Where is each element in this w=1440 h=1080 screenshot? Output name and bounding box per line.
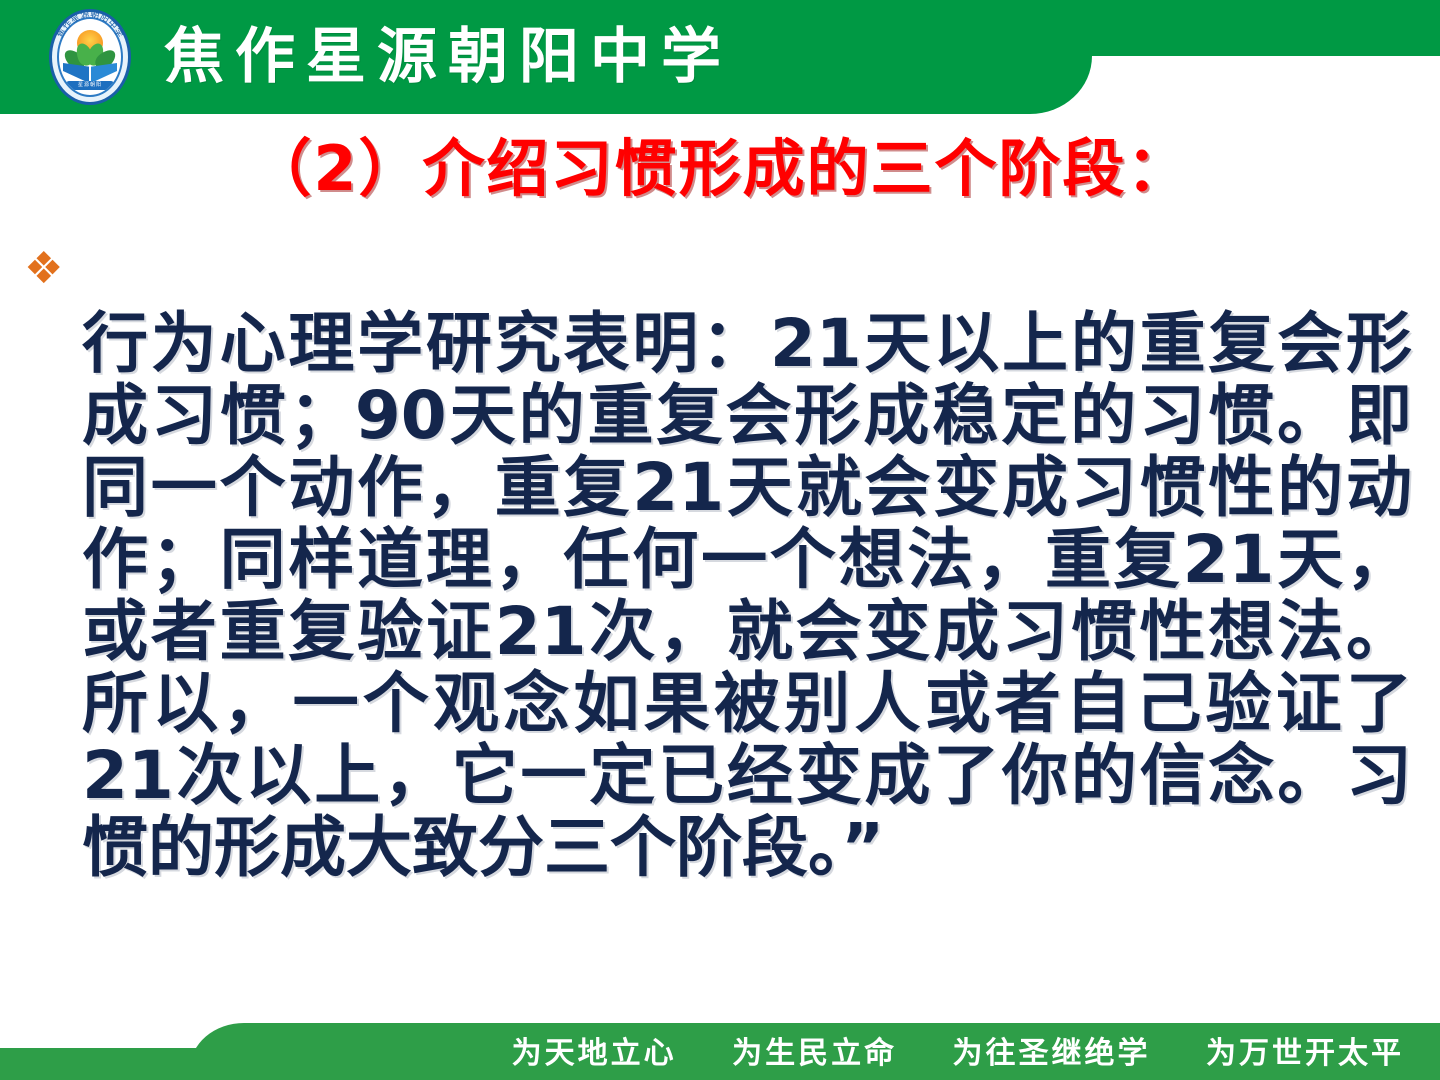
header: 2018 星源朝阳 焦作星源朝阳中学 焦作星源朝阳中学 (0, 0, 1092, 114)
logo-inner-oval: 2018 星源朝阳 (57, 17, 123, 97)
logo-ribbon: 星源朝阳 (66, 81, 114, 90)
footer-motto-part-2: 为生民立命 (732, 1036, 897, 1071)
slide-canvas: 2018 星源朝阳 焦作星源朝阳中学 焦作星源朝阳中学 （2）介绍习惯形成的三个… (0, 0, 1440, 1080)
school-logo: 2018 星源朝阳 焦作星源朝阳中学 (44, 7, 136, 107)
lotus-leaves-icon (66, 41, 114, 65)
footer-motto: 为天地立心 为生民立命 为往圣继绝学 为万世开太平 (0, 1028, 1440, 1072)
diamond-bullet-icon: ❖ (24, 246, 70, 292)
footer-motto-part-3: 为往圣继绝学 (953, 1036, 1151, 1071)
page-title: （2）介绍习惯形成的三个阶段： (0, 136, 1440, 201)
open-book-icon (63, 63, 117, 83)
school-name: 焦作星源朝阳中学 (164, 27, 732, 87)
slide-body-text: 行为心理学研究表明：21天以上的重复会形成习惯；90天的重复会形成稳定的习惯。即… (82, 308, 1412, 884)
footer-motto-part-4: 为万世开太平 (1206, 1036, 1404, 1071)
footer-motto-part-1: 为天地立心 (512, 1036, 677, 1071)
